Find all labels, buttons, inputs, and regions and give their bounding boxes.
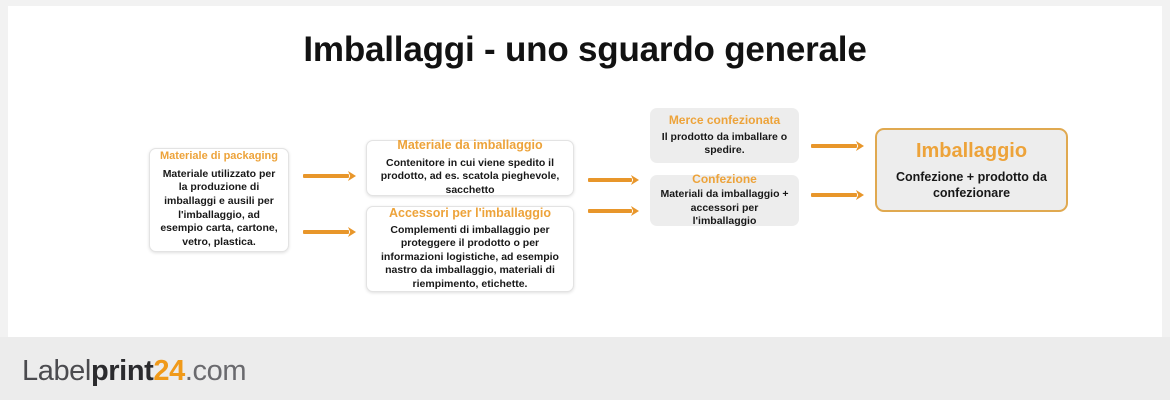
arrow-right-icon [303, 170, 361, 182]
labelprint24-logo[interactable]: Labelprint24.com [22, 355, 246, 388]
node-heading: Imballaggio [885, 139, 1058, 163]
node-body: Materiale utilizzato per la produzione d… [158, 168, 280, 250]
logo-part-com: .com [185, 355, 246, 387]
node-materiale-di-packaging[interactable]: Materiale di packaging Materiale utilizz… [149, 148, 289, 252]
node-heading: Materiale da imballaggio [375, 138, 565, 153]
node-materiale-da-imballaggio[interactable]: Materiale da imballaggio Contenitore in … [366, 140, 574, 196]
slide-canvas: Imballaggi - uno sguardo generale Materi… [0, 0, 1170, 400]
node-body: Complementi di imballaggio per protegger… [375, 224, 565, 292]
node-heading: Accessori per l'imballaggio [375, 206, 565, 221]
arrow-right-icon [811, 189, 869, 201]
node-heading: Confezione [659, 172, 790, 187]
node-body: Confezione + prodotto da confezionare [885, 169, 1058, 202]
node-body: Contenitore in cui viene spedito il prod… [375, 157, 565, 198]
logo-part-24: 24 [153, 355, 184, 387]
page-title: Imballaggi - uno sguardo generale [0, 30, 1170, 70]
node-heading: Merce confezionata [659, 113, 790, 128]
node-imballaggio[interactable]: Imballaggio Confezione + prodotto da con… [875, 128, 1068, 212]
arrow-right-icon [303, 226, 361, 238]
arrow-right-icon [588, 205, 644, 217]
logo-part-print: print [91, 355, 153, 387]
arrow-right-icon [588, 174, 644, 186]
node-body: Materiali da imballaggio + accessori per… [659, 188, 790, 229]
logo-part-label: Label [22, 355, 91, 387]
node-heading: Materiale di packaging [158, 150, 280, 163]
node-confezione[interactable]: Confezione Materiali da imballaggio + ac… [650, 175, 799, 226]
arrow-right-icon [811, 140, 869, 152]
node-body: Il prodotto da imballare o spedire. [659, 131, 790, 158]
node-accessori-per-imballaggio[interactable]: Accessori per l'imballaggio Complementi … [366, 206, 574, 292]
node-merce-confezionata[interactable]: Merce confezionata Il prodotto da imball… [650, 108, 799, 163]
